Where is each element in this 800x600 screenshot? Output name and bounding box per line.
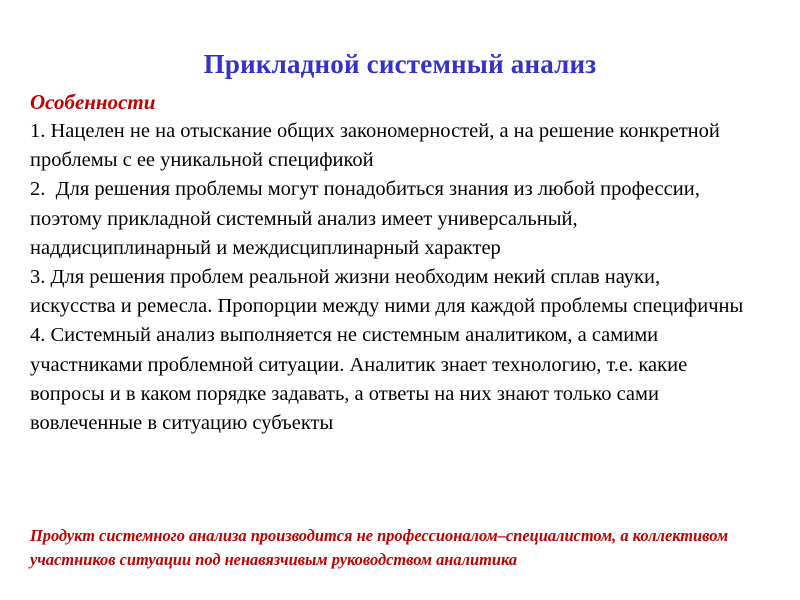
features-list: 1. Нацелен не на отыскание общих законом… [30,117,746,438]
list-item: 1. Нацелен не на отыскание общих законом… [30,117,746,175]
section-heading-features: Особенности [30,88,746,116]
list-item: 3. Для решения проблем реальной жизни не… [30,263,746,321]
presentation-slide: Прикладной системный анализ Особенности … [0,0,800,600]
list-item: 4. Системный анализ выполняется не систе… [30,321,746,438]
list-item: 2. Для решения проблемы могут понадобить… [30,175,746,263]
page-title: Прикладной системный анализ [0,48,800,80]
slide-body: Особенности 1. Нацелен не на отыскание о… [30,88,746,438]
conclusion-note: Продукт системного анализа производится … [30,524,778,572]
